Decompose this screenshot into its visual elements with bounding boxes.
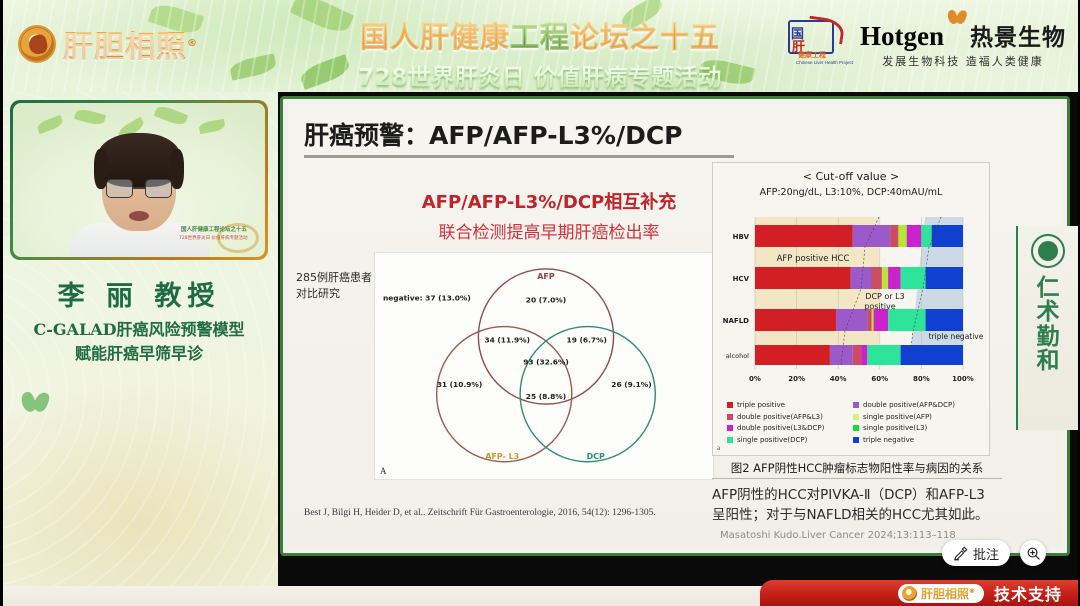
hotgen-logo: Hotgen 热景生物 发展生物科技 造福人类健康 bbox=[860, 18, 1066, 69]
legend-label: single positive(AFP) bbox=[863, 413, 932, 421]
legend-swatch bbox=[853, 414, 859, 420]
venn-label-afpl3: AFP- L3 bbox=[485, 452, 519, 461]
bar-row-alcohol bbox=[755, 345, 963, 365]
stacked-bar-chart: HBV HCV NAFLD alcohol AFP positive HCC D… bbox=[713, 211, 991, 401]
leaf-decor-icon bbox=[36, 115, 64, 134]
venn-value-l3-only: 31 (10.9%) bbox=[437, 380, 483, 389]
legend-item: triple negative bbox=[853, 436, 979, 444]
venn-value-dcp-only: 26 (9.1%) bbox=[611, 380, 651, 389]
legend-label: single positive(DCP) bbox=[737, 436, 807, 444]
slide-title: 肝癌预警：AFP/AFP-L3%/DCP bbox=[304, 116, 734, 152]
butterfly-icon bbox=[22, 392, 48, 414]
registered-mark: ® bbox=[969, 588, 975, 595]
vertical-slogan-char-3: 勤 bbox=[1037, 325, 1060, 349]
leaf-decor-icon bbox=[198, 119, 226, 134]
legend-item: double positive(AFP&L3) bbox=[727, 413, 853, 421]
speaker-topic-line1: C-GALAD肝癌风险预警模型 bbox=[0, 318, 278, 342]
bar-category-alcohol: alcohol bbox=[726, 352, 749, 360]
hotgen-name-cn: 热景生物 bbox=[970, 18, 1066, 52]
speaker-video-feed[interactable]: 国人肝健康工程论坛之十五 728世界肝炎日 价值肝病专题活动 bbox=[13, 103, 265, 257]
glasses-bridge bbox=[133, 187, 145, 189]
venn-reference: Best J, Bilgi H, Heider D, et al.. Zeits… bbox=[304, 508, 744, 518]
hotgen-wordmark: Hotgen bbox=[860, 21, 944, 52]
legend-item: single positive(DCP) bbox=[727, 436, 853, 444]
legend-swatch bbox=[727, 414, 733, 420]
bar-row-hcv bbox=[755, 267, 963, 289]
legend-item: double positive(L3&DCP) bbox=[727, 424, 853, 432]
bar-category-hcv: HCV bbox=[733, 275, 750, 283]
clhp-subtitle-en: Chinese Liver Health Project bbox=[796, 60, 853, 65]
hospital-logo-icon bbox=[1031, 234, 1065, 268]
legend-swatch bbox=[727, 402, 733, 408]
figure-caption: 图2 AFP阴性HCC肿瘤标志物阳性率与病因的关系 bbox=[712, 460, 1002, 476]
footer-brand-text: 肝胆相照® bbox=[921, 585, 975, 602]
leaf-decor-icon bbox=[74, 107, 106, 126]
legend-label: double positive(AFP&L3) bbox=[737, 413, 823, 421]
video-watermark-line1: 国人肝健康工程论坛之十五 bbox=[181, 225, 247, 233]
glasses-lens-right bbox=[145, 179, 172, 198]
slide-subtitle-2: 联合检测提高早期肝癌检出率 bbox=[374, 218, 724, 243]
clhp-subtitle: 健康工程 bbox=[798, 50, 826, 60]
leaf-decor-icon bbox=[154, 103, 189, 127]
venn-value-negative: negative: 37 (13.0%) bbox=[383, 294, 471, 303]
speaker-glasses-icon bbox=[106, 179, 172, 198]
zoom-in-button[interactable] bbox=[1020, 540, 1046, 566]
clhp-swoosh-shape bbox=[807, 16, 846, 45]
annotation-dcp-or-l3-line2: positive bbox=[864, 302, 895, 311]
speaker-name: 李 丽 教授 bbox=[0, 274, 278, 313]
x-axis-ticks: 0% 20% 40% 60% 80% 100% bbox=[749, 375, 974, 383]
speaker-topic-line2: 赋能肝癌早筛早诊 bbox=[0, 342, 278, 366]
slide-subtitle-1: AFP/AFP-L3%/DCP相互补充 bbox=[384, 188, 714, 214]
legend-label: triple negative bbox=[863, 436, 914, 444]
vertical-slogan: 仁 术 勤 和 bbox=[1037, 276, 1060, 374]
venn-label-dcp: DCP bbox=[587, 452, 605, 461]
magnifier-plus-icon bbox=[1026, 546, 1041, 561]
venn-value-triple: 93 (32.6%) bbox=[523, 357, 569, 366]
svg-text:80%: 80% bbox=[913, 375, 930, 383]
annotation-triple-negative: triple negative bbox=[929, 332, 984, 341]
legend-label: single positive(L3) bbox=[863, 424, 927, 432]
svg-text:100%: 100% bbox=[952, 375, 974, 383]
right-panel-label: a bbox=[717, 444, 720, 452]
speaker-video-frame[interactable]: 国人肝健康工程论坛之十五 728世界肝炎日 价值肝病专题活动 bbox=[10, 100, 268, 260]
venn-value-afp-only: 20 (7.0%) bbox=[526, 296, 566, 305]
registered-mark: ® bbox=[187, 38, 198, 49]
hotgen-tagline: 发展生物科技 造福人类健康 bbox=[860, 53, 1066, 69]
venn-value-afp-dcp: 19 (6.7%) bbox=[567, 335, 607, 344]
legend-swatch bbox=[853, 437, 859, 443]
video-watermark: 国人肝健康工程论坛之十五 728世界肝炎日 价值肝病专题活动 bbox=[175, 221, 261, 255]
venn-diagram: AFP AFP- L3 DCP negative: 37 (13.0%) 20 … bbox=[374, 252, 714, 480]
hotgen-logo-row: Hotgen 热景生物 bbox=[860, 18, 1066, 52]
legend-label: double positive(L3&DCP) bbox=[737, 424, 824, 432]
venn-diagram-svg: AFP AFP- L3 DCP negative: 37 (13.0%) 20 … bbox=[375, 253, 713, 480]
tech-support-bar[interactable]: 肝胆相照® 技术支持 bbox=[760, 580, 1080, 606]
slide-content: 肝癌预警：AFP/AFP-L3%/DCP AFP/AFP-L3%/DCP相互补充… bbox=[288, 104, 1062, 548]
annotation-afp-positive: AFP positive HCC bbox=[777, 254, 850, 264]
venn-value-l3-dcp: 25 (8.8%) bbox=[526, 392, 566, 401]
svg-text:0%: 0% bbox=[749, 375, 761, 383]
figure-body-text: AFP阴性的HCC对PIVKA-Ⅱ（DCP）和AFP-L3 呈阳性；对于与NAF… bbox=[712, 486, 1012, 525]
brand-logo-text: 肝胆相照® bbox=[63, 22, 198, 66]
legend-item: single positive(L3) bbox=[853, 424, 979, 432]
video-watermark-line2: 728世界肝炎日 价值肝病专题活动 bbox=[179, 235, 248, 241]
legend-item: double positive(AFP&DCP) bbox=[853, 401, 979, 409]
pen-icon bbox=[953, 546, 968, 561]
vertical-slogan-char-2: 术 bbox=[1037, 300, 1060, 324]
legend-swatch bbox=[727, 437, 733, 443]
footer-brand-logo: 肝胆相照® bbox=[898, 584, 984, 603]
tech-support-label: 技术支持 bbox=[994, 581, 1062, 605]
annotate-button[interactable]: 批注 bbox=[942, 540, 1010, 566]
glasses-lens-left bbox=[106, 179, 133, 198]
liver-seal-icon bbox=[18, 25, 56, 63]
butterfly-icon bbox=[948, 10, 966, 26]
venn-panel-label: A bbox=[380, 466, 387, 476]
speaker-mouth bbox=[129, 211, 149, 221]
slide-title-rule bbox=[304, 155, 734, 158]
leaf-decor-icon bbox=[229, 53, 278, 80]
legend-swatch bbox=[853, 402, 859, 408]
left-sidebar: 国人肝健康工程论坛之十五 728世界肝炎日 价值肝病专题活动 李 丽 教授 C-… bbox=[0, 92, 278, 606]
venn-note: 285例肝癌患者对比研究 bbox=[296, 270, 374, 302]
annotate-label: 批注 bbox=[973, 544, 999, 563]
cutoff-chart-title: < Cut-off value > bbox=[713, 170, 989, 183]
legend-label: triple positive bbox=[737, 401, 785, 409]
legend-item: triple positive bbox=[727, 401, 853, 409]
bar-category-nafld: NAFLD bbox=[723, 317, 750, 325]
bar-row-hbv bbox=[755, 225, 963, 247]
cutoff-bar-chart-card: < Cut-off value > AFP:20ng/dL, L3:10%, D… bbox=[712, 162, 990, 456]
legend-swatch bbox=[727, 425, 733, 431]
brand-logo-ganda: 肝胆相照® bbox=[18, 22, 198, 66]
figure-caption-rule bbox=[712, 478, 1002, 479]
liver-seal-icon bbox=[902, 586, 917, 601]
slide-title-block: 肝癌预警：AFP/AFP-L3%/DCP bbox=[304, 116, 734, 158]
sponsor-logos: 国 肝 健康工程 Chinese Liver Health Project Ho… bbox=[786, 16, 1066, 70]
venn-value-afp-l3: 34 (11.9%) bbox=[484, 335, 530, 344]
venn-label-afp: AFP bbox=[537, 272, 555, 281]
svg-text:20%: 20% bbox=[788, 375, 805, 383]
livestream-screen: 肝胆相照® 国人肝健康工程论坛之十五 728世界肝炎日 价值肝病专题活动 国 肝… bbox=[0, 0, 1080, 606]
left-letterbox-edge bbox=[0, 0, 3, 606]
sponsor-vertical-banner: 仁 术 勤 和 bbox=[1016, 226, 1080, 430]
cutoff-chart-subtitle: AFP:20ng/dL, L3:10%, DCP:40mAU/mL bbox=[713, 187, 989, 198]
forum-title-sub: 728世界肝炎日 价值肝病专题活动 bbox=[318, 58, 762, 92]
legend-item: single positive(AFP) bbox=[853, 413, 979, 421]
legend-label: double positive(AFP&DCP) bbox=[863, 401, 955, 409]
legend-swatch bbox=[853, 425, 859, 431]
annotation-dcp-or-l3-line1: DCP or L3 bbox=[865, 292, 904, 301]
forum-title-main: 国人肝健康工程论坛之十五 bbox=[318, 14, 762, 56]
stacked-bar-svg: HBV HCV NAFLD alcohol AFP positive HCC D… bbox=[713, 211, 991, 401]
top-banner: 肝胆相照® 国人肝健康工程论坛之十五 728世界肝炎日 价值肝病专题活动 国 肝… bbox=[0, 0, 1080, 92]
vertical-slogan-char-1: 仁 bbox=[1037, 276, 1060, 300]
figure-body-line2: 呈阳性；对于与NAFLD相关的HCC尤其如此。 bbox=[712, 506, 1012, 526]
slide-frame[interactable]: 肝癌预警：AFP/AFP-L3%/DCP AFP/AFP-L3%/DCP相互补充… bbox=[280, 96, 1070, 556]
speaker-topic: C-GALAD肝癌风险预警模型 赋能肝癌早筛早诊 bbox=[0, 318, 278, 366]
bar-category-hbv: HBV bbox=[733, 233, 750, 241]
bar-row-nafld bbox=[755, 309, 963, 331]
svg-text:60%: 60% bbox=[871, 375, 888, 383]
figure-body-line1: AFP阴性的HCC对PIVKA-Ⅱ（DCP）和AFP-L3 bbox=[712, 486, 1012, 506]
forum-title: 国人肝健康工程论坛之十五 728世界肝炎日 价值肝病专题活动 bbox=[318, 14, 762, 92]
chart-legend: triple positive double positive(AFP&DCP)… bbox=[727, 401, 979, 447]
vertical-slogan-char-4: 和 bbox=[1037, 349, 1060, 373]
china-liver-health-project-logo-icon: 国 肝 健康工程 Chinese Liver Health Project bbox=[786, 16, 848, 70]
svg-text:40%: 40% bbox=[830, 375, 847, 383]
